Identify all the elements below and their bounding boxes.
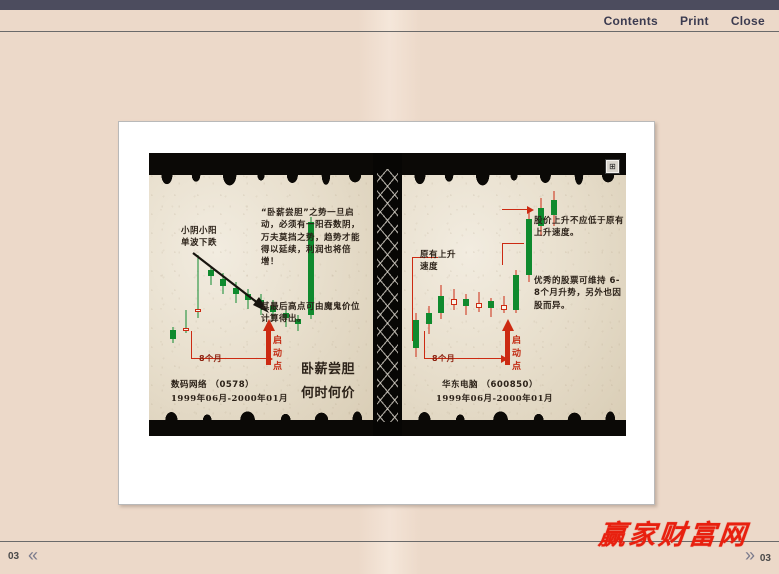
right-text-leader-2b <box>502 243 524 244</box>
torn-top-edge-right <box>402 153 626 175</box>
next-page-button[interactable]: » <box>745 546 755 564</box>
start-point-stem-right <box>505 331 510 365</box>
candlestick <box>488 189 494 359</box>
zoom-icon: ⊞ <box>609 162 616 171</box>
chart-caption-name-right: 华东电脑 （600850） <box>442 379 538 391</box>
brush-title-line-1: 卧薪尝胆 <box>301 361 355 380</box>
book-spine <box>373 153 402 436</box>
annotation-original-speed: 原有上升 速度 <box>420 249 456 274</box>
torn-bottom-edge-right <box>402 420 626 436</box>
contents-button[interactable]: Contents <box>604 15 658 27</box>
viewer-toolbar: Contents Print Close <box>0 10 779 32</box>
candle-body <box>426 313 432 323</box>
duration-label-left: 8个月 <box>199 353 222 365</box>
candlestick <box>513 189 519 359</box>
annotation-small-candles: 小阴小阳 单波下跌 <box>181 225 217 250</box>
print-button[interactable]: Print <box>680 15 709 27</box>
candle-body <box>451 299 457 304</box>
candle-body <box>551 200 557 216</box>
annotation-left-paragraph-1: “卧薪尝胆”之势一旦启动，必须有一阳吞数阴，万夫莫挡之势，趋势才能得以延续，利润… <box>261 207 365 269</box>
start-point-label-right: 启动点 <box>512 335 523 374</box>
right-text-leader-2 <box>502 243 503 265</box>
torn-top-edge-left <box>149 153 373 175</box>
candle-body <box>438 296 444 313</box>
candlestick <box>463 189 469 359</box>
candle-body <box>513 275 519 310</box>
candlestick <box>438 189 444 359</box>
candle-body <box>183 328 189 331</box>
candle-body <box>463 299 469 306</box>
annotation-right-paragraph-1: 股价上升不应低于原有上升速度。 <box>534 215 626 240</box>
candle-body <box>501 305 507 310</box>
candlestick <box>170 215 176 345</box>
previous-page-button[interactable]: « <box>28 546 38 564</box>
start-point-label-left: 启动点 <box>273 335 284 374</box>
candle-body <box>526 219 532 275</box>
candle-body <box>170 330 176 339</box>
candle-body <box>488 301 494 308</box>
book-illustration: 小阴小阳 单波下跌 “卧薪尝胆”之势一旦启动，必须有一阳吞数阴，万夫莫挡之势，趋… <box>149 153 626 436</box>
candlestick <box>526 189 532 359</box>
start-point-stem-left <box>266 331 271 365</box>
chart-caption-date-left: 1999年06月-2000年01月 <box>171 393 288 405</box>
candlestick <box>413 189 419 359</box>
zoom-image-button[interactable]: ⊞ <box>605 159 620 174</box>
book-page-sheet: 小阴小阳 单波下跌 “卧薪尝胆”之势一旦启动，必须有一阳吞数阴，万夫莫挡之势，趋… <box>118 121 655 505</box>
annotation-left-paragraph-2: 其最后高点可由魔鬼价位计算得出。 <box>261 301 365 326</box>
close-button[interactable]: Close <box>731 15 765 27</box>
torn-bottom-edge-left <box>149 420 373 436</box>
chart-caption-name-left: 数码网络 （0578） <box>171 379 254 391</box>
right-text-leader-1 <box>502 209 528 210</box>
spine-stitching <box>377 169 398 422</box>
candle-body <box>476 303 482 308</box>
book-right-page: 原有上升 速度 股价上升不应低于原有上升速度。 优秀的股票可维持 6-8个月升势… <box>402 153 626 436</box>
book-left-page: 小阴小阳 单波下跌 “卧薪尝胆”之势一旦启动，必须有一阳吞数阴，万夫莫挡之势，趋… <box>149 153 373 436</box>
duration-label-right: 8个月 <box>432 353 455 365</box>
viewer-bottombar: 03 « 赢家财富网 » 03 <box>0 541 779 574</box>
page-number-right: 03 <box>760 553 771 564</box>
start-point-arrow-right <box>502 319 514 331</box>
right-text-arrow-1 <box>527 206 534 214</box>
duration-bracket-right-vertical <box>424 331 425 359</box>
candlestick <box>451 189 457 359</box>
window-titlebar <box>0 0 779 10</box>
duration-bracket-left-vertical <box>191 331 192 359</box>
candle-body <box>413 320 419 348</box>
candlestick <box>476 189 482 359</box>
candlestick <box>426 189 432 359</box>
viewer-stage: 小阴小阳 单波下跌 “卧薪尝胆”之势一旦启动，必须有一阳吞数阴，万夫莫挡之势，趋… <box>0 33 779 541</box>
page-number-left: 03 <box>8 551 19 562</box>
annotation-right-paragraph-2: 优秀的股票可维持 6-8个月升势，另外也因股而异。 <box>534 275 626 312</box>
original-speed-leader-vertical <box>412 257 413 341</box>
brush-title-line-2: 何时何价 <box>301 385 355 404</box>
chart-caption-date-right: 1999年06月-2000年01月 <box>436 393 553 405</box>
